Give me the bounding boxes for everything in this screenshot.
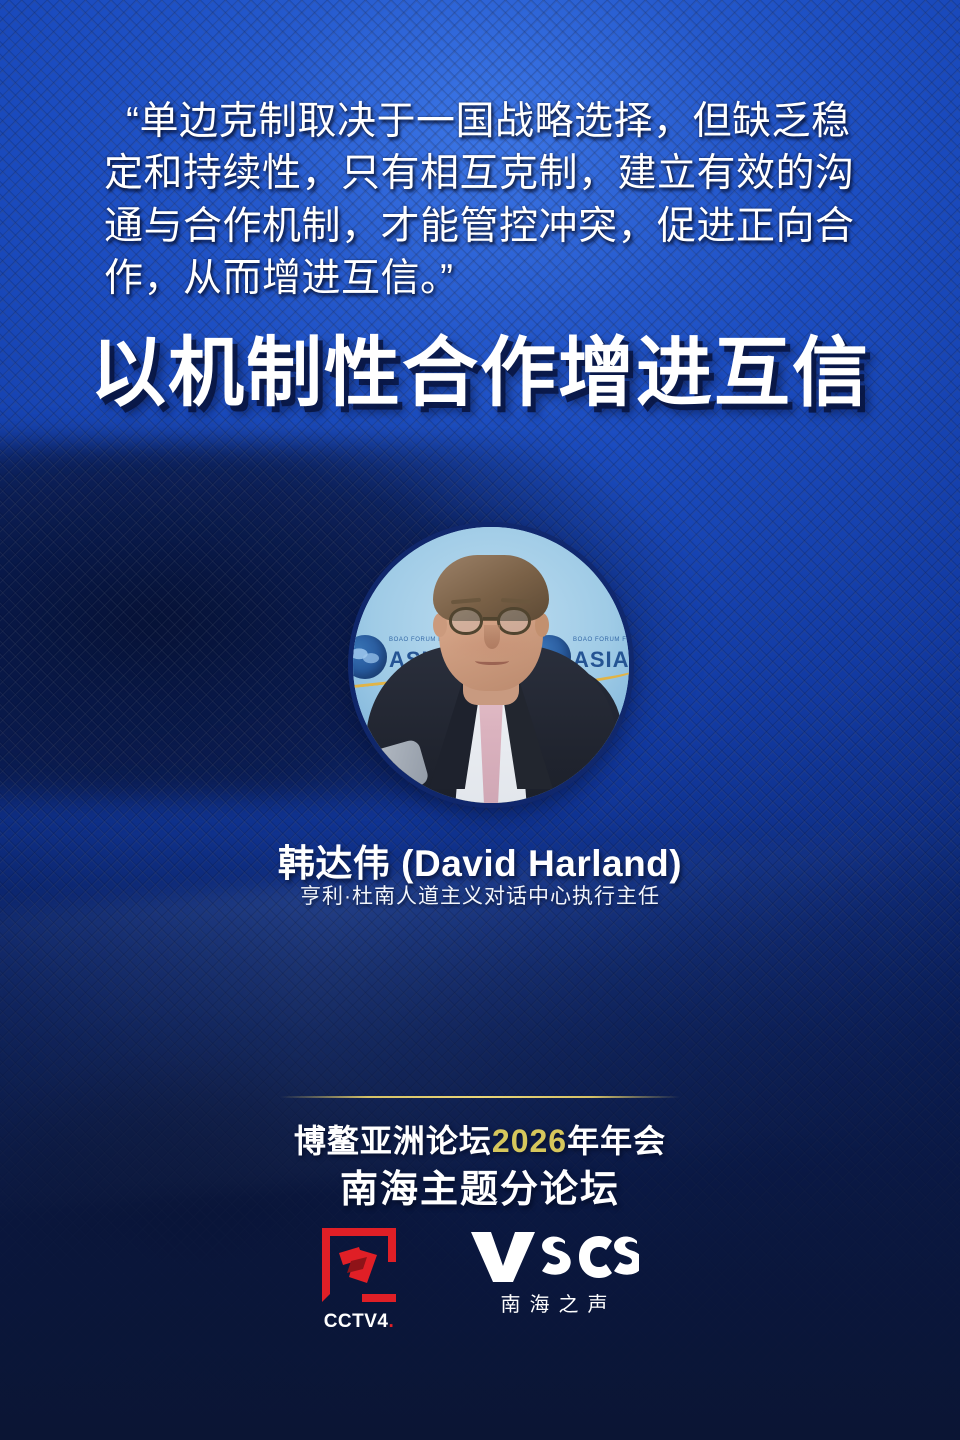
quote-text: “单边克制取决于一国战略选择，但缺乏稳定和持续性，只有相互克制，建立有效的沟通与… bbox=[104, 96, 864, 305]
gold-divider bbox=[280, 1096, 680, 1098]
speaker-role: 亨利·杜南人道主义对话中心执行主任 bbox=[0, 880, 960, 910]
forum-year: 2026 bbox=[492, 1123, 567, 1159]
forum-title-suffix: 年年会 bbox=[567, 1123, 666, 1159]
eyeglasses-bridge bbox=[483, 617, 499, 620]
cctv4-logo: CCTV4. bbox=[316, 1228, 402, 1333]
speaker-name: 韩达伟 (David Harland) bbox=[0, 833, 960, 887]
logo-row: CCTV4. 南海之声 bbox=[0, 1228, 960, 1338]
cctv4-period: . bbox=[389, 1311, 395, 1332]
forum-title-prefix: 博鳌亚洲论坛 bbox=[294, 1123, 492, 1159]
hair bbox=[433, 555, 549, 621]
cctv4-glyph-icon bbox=[337, 1245, 381, 1285]
cctv4-bracket-icon bbox=[322, 1228, 396, 1302]
forum-subtitle: 南海主题分论坛 bbox=[0, 1158, 960, 1213]
vscs-wordmark-icon bbox=[469, 1230, 639, 1284]
cctv4-corner-dot-icon bbox=[388, 1294, 396, 1302]
forum-title-line: 博鳌亚洲论坛2026年年会 bbox=[0, 1116, 960, 1162]
cctv4-wordmark: CCTV4. bbox=[316, 1311, 402, 1333]
cctv4-label: CCTV4 bbox=[324, 1311, 389, 1332]
speaker-portrait: BOAO FORUM FOR ASIA BOAO FORUM FOR ASIA bbox=[353, 527, 629, 803]
speaker-figure bbox=[353, 527, 629, 803]
mouth bbox=[475, 657, 509, 665]
poster-card: “单边克制取决于一国战略选择，但缺乏稳定和持续性，只有相互克制，建立有效的沟通与… bbox=[0, 0, 960, 1440]
vscs-logo: 南海之声 bbox=[464, 1228, 644, 1317]
page-title: 以机制性合作增进互信 bbox=[0, 311, 960, 421]
vscs-chinese-label: 南海之声 bbox=[464, 1288, 644, 1317]
